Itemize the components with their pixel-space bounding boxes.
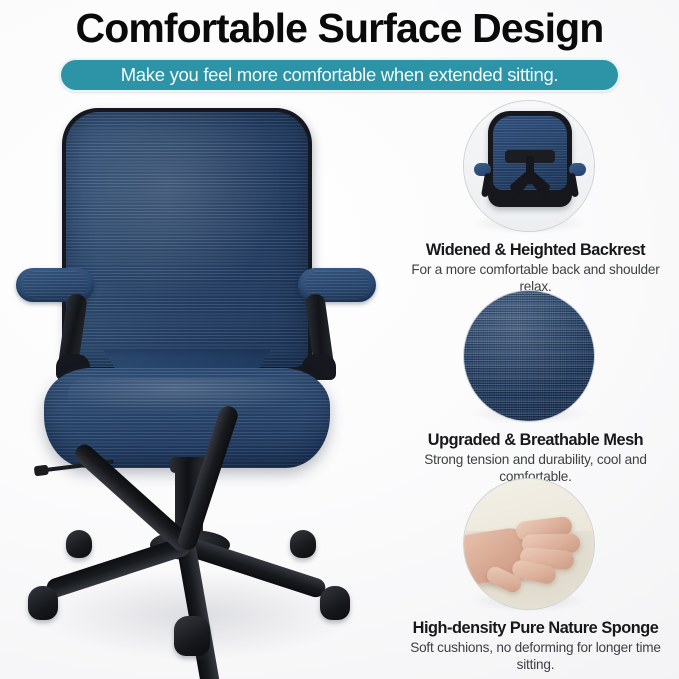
hand-pressing-foam-icon [463,478,595,610]
header: Comfortable Surface Design Make you feel… [0,0,679,100]
feature-list: Widened & Heighted Backrest For a more c… [392,100,679,679]
feature-title: Widened & Heighted Backrest [392,240,679,260]
feature-image-wrap [392,290,679,423]
caster-wheel [320,586,350,620]
caster-wheel [290,530,316,558]
subtitle-banner: Make you feel more comfortable when exte… [59,58,620,92]
feature-item-sponge: High-density Pure Nature Sponge Soft cus… [392,478,679,673]
caster-wheel [66,530,92,558]
caster-wheel [174,616,210,656]
feature-description: Soft cushions, no deforming for longer t… [392,640,679,673]
feature-item-mesh: Upgraded & Breathable Mesh Strong tensio… [392,290,679,485]
mesh-texture [464,291,594,421]
feature-title: High-density Pure Nature Sponge [392,618,679,638]
armrest-right [284,268,376,386]
armrest-icon-left [474,163,498,193]
feature-image-wrap [392,478,679,611]
armrest-icon-right [562,163,586,193]
hero-product-image [0,100,392,679]
feature-image-wrap [392,100,679,233]
mesh-fabric-swatch-icon [463,290,595,422]
infographic-canvas: Comfortable Surface Design Make you feel… [0,0,679,679]
chair-backrest-front-icon [463,100,595,232]
subtitle-text: Make you feel more comfortable when exte… [121,65,559,85]
feature-item-backrest: Widened & Heighted Backrest For a more c… [392,100,679,295]
page-title: Comfortable Surface Design [0,5,679,51]
feature-title: Upgraded & Breathable Mesh [392,430,679,450]
caster-wheel [28,586,58,620]
